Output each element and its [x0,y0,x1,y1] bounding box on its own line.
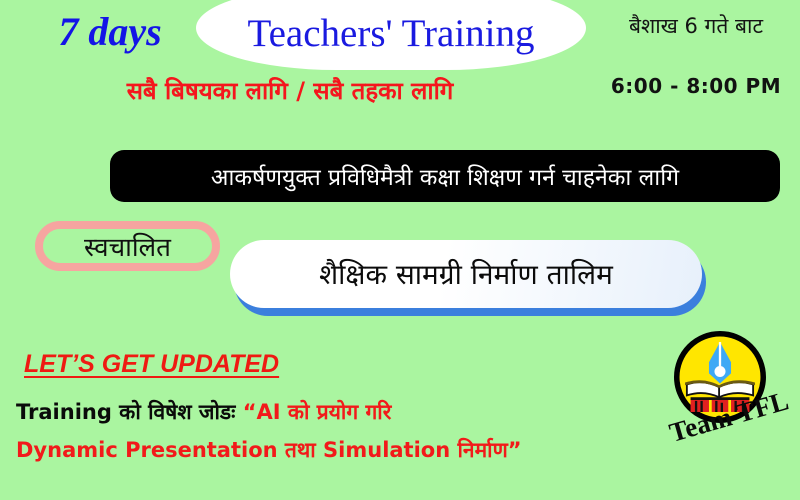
call-to-action: LET’S GET UPDATED [24,350,279,379]
note-line-1-red: “AI को प्रयोग गरि [243,400,392,424]
headline-text: शैक्षिक सामग्री निर्माण तालिम [319,255,613,293]
title-pill: Teachers' Training [196,0,586,70]
brand-logo: Team TFL [664,331,800,497]
poster-canvas: 7 days Teachers' Training बैशाख 6 गते बा… [0,0,800,500]
headline-pill: शैक्षिक सामग्री निर्माण तालिम [230,240,702,308]
event-time: 6:00 - 8:00 PM [592,74,800,98]
note-line-1: Training को विषेश जोडः “AI को प्रयोग गरि [16,398,391,426]
note-line-2: Dynamic Presentation तथा Simulation निर्… [16,436,522,464]
automatic-tag: स्वचालित [35,221,220,271]
page-title: Teachers' Training [248,1,535,56]
note-line-1-black: Training को विषेश जोडः [16,400,243,424]
audience-subtitle: सबै बिषयका लागि / सबै तहका लागि [0,74,580,107]
event-date: बैशाख 6 गते बाट [592,12,800,40]
automatic-tag-label: स्वचालित [84,228,171,264]
highlight-banner: आकर्षणयुक्त प्रविधिमैत्री कक्षा शिक्षण ग… [110,150,780,202]
duration-badge: 7 days [30,8,190,55]
highlight-banner-text: आकर्षणयुक्त प्रविधिमैत्री कक्षा शिक्षण ग… [211,160,679,192]
